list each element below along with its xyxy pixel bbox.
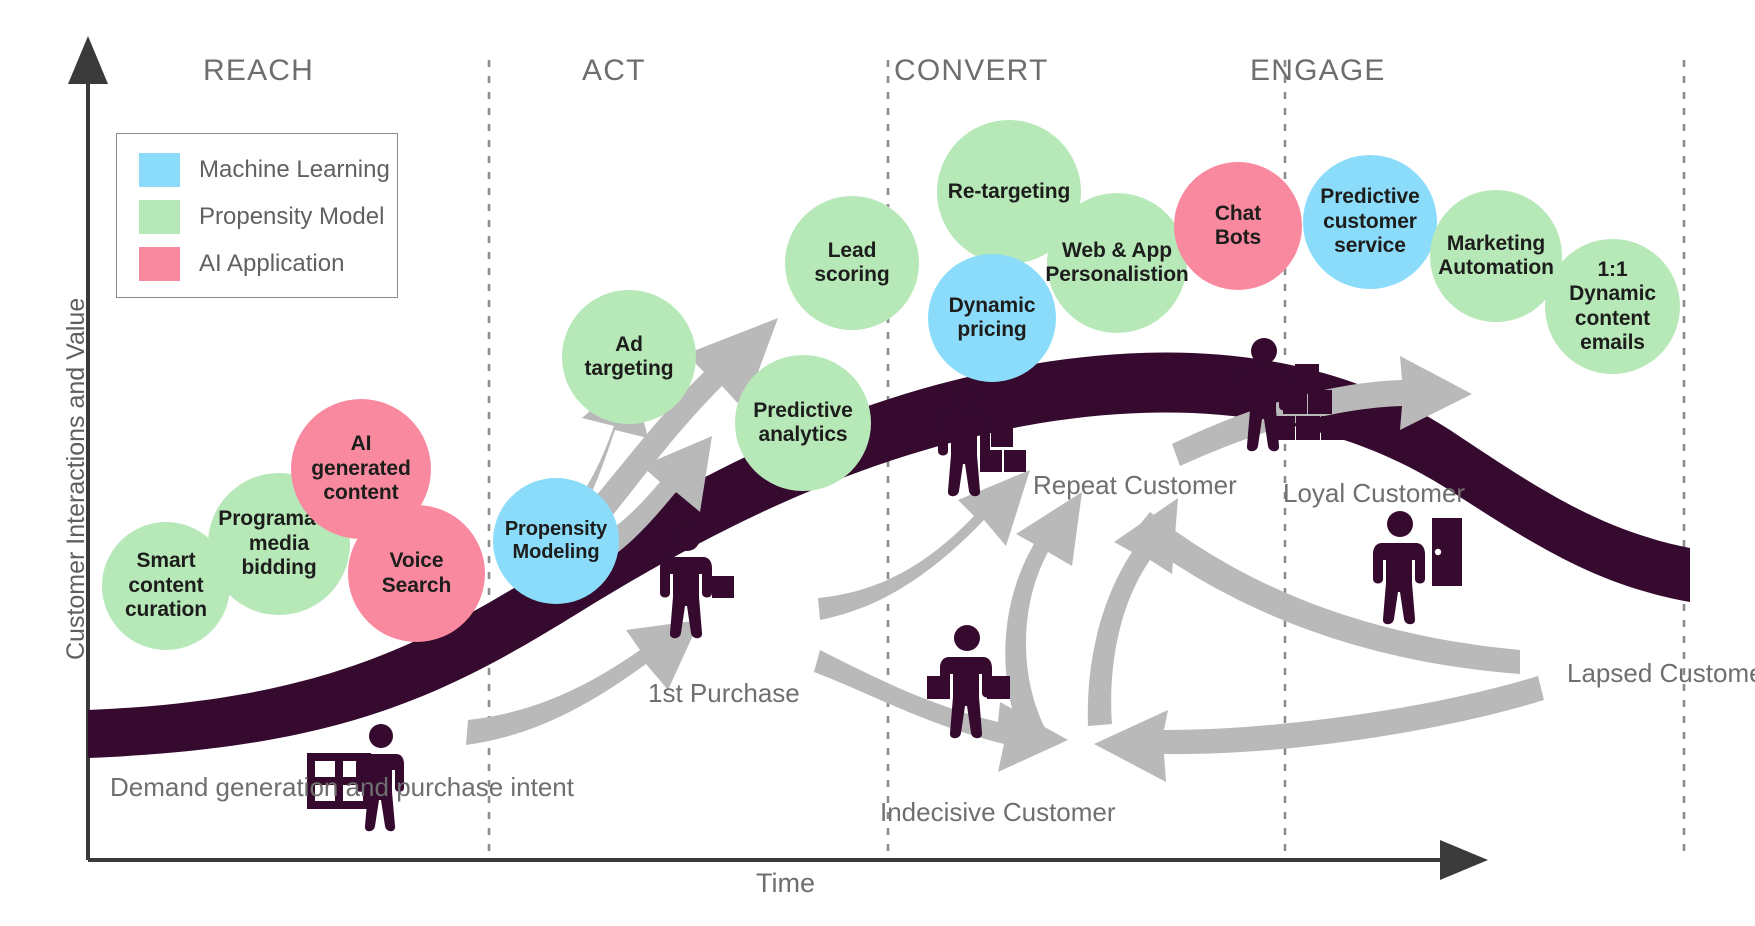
bubble-predictive-analytics[interactable]: Predictive analytics	[735, 355, 871, 491]
stage-label-first-purchase: 1st Purchase	[648, 678, 758, 709]
legend-item-propensity-model: Propensity Model	[139, 197, 397, 237]
y-axis-label: Customer Interactions and Value	[62, 298, 91, 660]
stage-label-demand-generation: Demand generation and purchase intent	[110, 772, 360, 803]
bubble-voice-search[interactable]: Voice Search	[348, 505, 485, 642]
legend-swatch-propensity-model	[139, 200, 180, 234]
legend: Machine Learning Propensity Model AI App…	[116, 133, 398, 298]
x-axis-label: Time	[756, 868, 815, 899]
phase-label-reach: REACH	[203, 54, 314, 88]
legend-item-ai-application: AI Application	[139, 244, 397, 284]
bubble-1-1-dynamic-content-emails[interactable]: 1:1 Dynamic content emails	[1545, 239, 1680, 374]
legend-label-machine-learning: Machine Learning	[199, 156, 390, 184]
bubble-chat-bots[interactable]: Chat Bots	[1174, 162, 1302, 290]
phase-label-convert: CONVERT	[894, 54, 1049, 88]
phase-label-engage: ENGAGE	[1250, 54, 1386, 88]
stage-label-lapsed-customer: Lapsed Customer	[1567, 658, 1687, 689]
bubble-propensity-modeling[interactable]: Propensity Modeling	[493, 478, 619, 604]
legend-label-ai-application: AI Application	[199, 250, 344, 278]
person-door-icon	[1373, 511, 1462, 624]
bubble-dynamic-pricing[interactable]: Dynamic pricing	[928, 254, 1056, 382]
stage-label-repeat-customer: Repeat Customer	[1033, 470, 1163, 501]
bubble-marketing-automation[interactable]: Marketing Automation	[1430, 190, 1562, 322]
phase-label-act: ACT	[582, 54, 646, 88]
bubble-lead-scoring[interactable]: Lead scoring	[785, 196, 919, 330]
legend-swatch-ai-application	[139, 247, 180, 281]
stage-label-indecisive-customer: Indecisive Customer	[880, 797, 1116, 828]
bubble-ad-targeting[interactable]: Ad targeting	[562, 290, 696, 424]
legend-item-machine-learning: Machine Learning	[139, 150, 397, 190]
legend-swatch-machine-learning	[139, 153, 180, 187]
diagram-canvas: REACH ACT CONVERT ENGAGE Customer Intera…	[0, 0, 1755, 926]
person-six-boxes-icon	[1237, 338, 1345, 451]
arrow-lapsed-to-indecisive	[1094, 676, 1544, 782]
bubble-web-app-personalistion[interactable]: Web & App Personalistion	[1047, 193, 1187, 333]
arrow-indecisive-to-repeat-left	[1005, 492, 1082, 738]
stage-label-loyal-customer: Loyal Customer	[1283, 478, 1403, 509]
legend-label-propensity-model: Propensity Model	[199, 203, 384, 231]
arrow-first-purchase-to-repeat	[818, 470, 1030, 620]
bubble-predictive-customer-service[interactable]: Predictive customer service	[1303, 155, 1437, 289]
